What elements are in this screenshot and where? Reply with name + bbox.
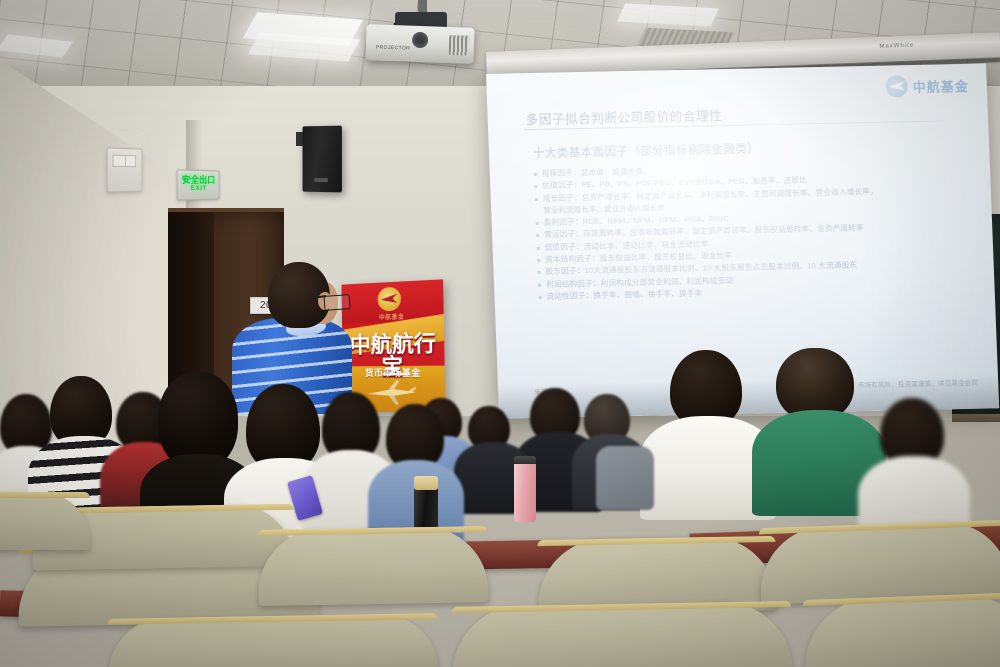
- backpack: [596, 446, 654, 510]
- audience-member: [868, 398, 958, 538]
- projector-lens-icon: [412, 32, 429, 49]
- audience-member-white-shirt: [652, 350, 762, 510]
- exit-sign-cn-label: 安全出口: [182, 176, 215, 185]
- wall-speaker: [303, 126, 342, 193]
- slide-logo: 中航基金: [885, 74, 969, 98]
- blackboard-chalk-rail: [952, 414, 1000, 422]
- seat-trim: [0, 492, 90, 498]
- slide-logo-text: 中航基金: [912, 75, 969, 95]
- bottle-cap: [514, 456, 536, 464]
- lecture-seat[interactable]: [108, 613, 439, 667]
- audience-member-green-shirt: [760, 348, 872, 508]
- bullet-dot-icon: [534, 185, 537, 188]
- ceiling-projector: PROJECTOR: [365, 24, 474, 64]
- projector-vent-icon: [449, 35, 470, 56]
- bullet-dot-icon: [539, 296, 542, 299]
- slide-bullet-list: 规模因子：总市值、流通市值 估值因子：PE、PB、PS、PCF/PEG、EV/E…: [534, 160, 973, 304]
- audience-member: [462, 406, 522, 498]
- exit-sign-en-label: EXIT: [191, 185, 207, 194]
- slide-subtitle: 十大类基本面因子（部分指标剔除金融类）: [533, 140, 760, 161]
- presenter-glasses-icon: [324, 294, 351, 311]
- lecture-seat[interactable]: [451, 601, 792, 667]
- bullet-text: 流动性因子：换手率、振幅、换手率、换手率: [546, 288, 702, 302]
- exit-sign: 安全出口 EXIT: [177, 169, 220, 200]
- bullet-dot-icon: [538, 271, 541, 274]
- bullet-dot-icon: [536, 234, 539, 237]
- bullet-dot-icon: [537, 259, 540, 262]
- pink-water-bottle: [514, 456, 536, 522]
- bullet-dot-icon: [538, 283, 541, 286]
- electrical-switch-box[interactable]: [107, 147, 143, 192]
- seat-trim: [537, 536, 775, 546]
- screen-brand-label: MaxWhite: [879, 43, 914, 50]
- thermos-cap: [414, 476, 438, 490]
- lecture-seat[interactable]: [803, 592, 1000, 667]
- bullet-dot-icon: [537, 247, 540, 250]
- speaker-brand-badge: [314, 178, 328, 182]
- bullet-dot-icon: [536, 222, 539, 225]
- projector-brand-label: PROJECTOR: [376, 44, 411, 51]
- lecture-seat[interactable]: [759, 520, 1000, 605]
- classroom-scene: PROJECTOR 安全出口 EXIT 20 标 回答 八、小 factor 分…: [0, 0, 1000, 667]
- bullet-text: 规模因子：总市值、流通市值: [542, 167, 644, 180]
- bullet-dot-icon: [535, 197, 538, 200]
- avic-plane-logo-icon: [885, 75, 908, 97]
- bullet-dot-icon: [534, 173, 537, 176]
- lecture-seat[interactable]: [257, 526, 488, 606]
